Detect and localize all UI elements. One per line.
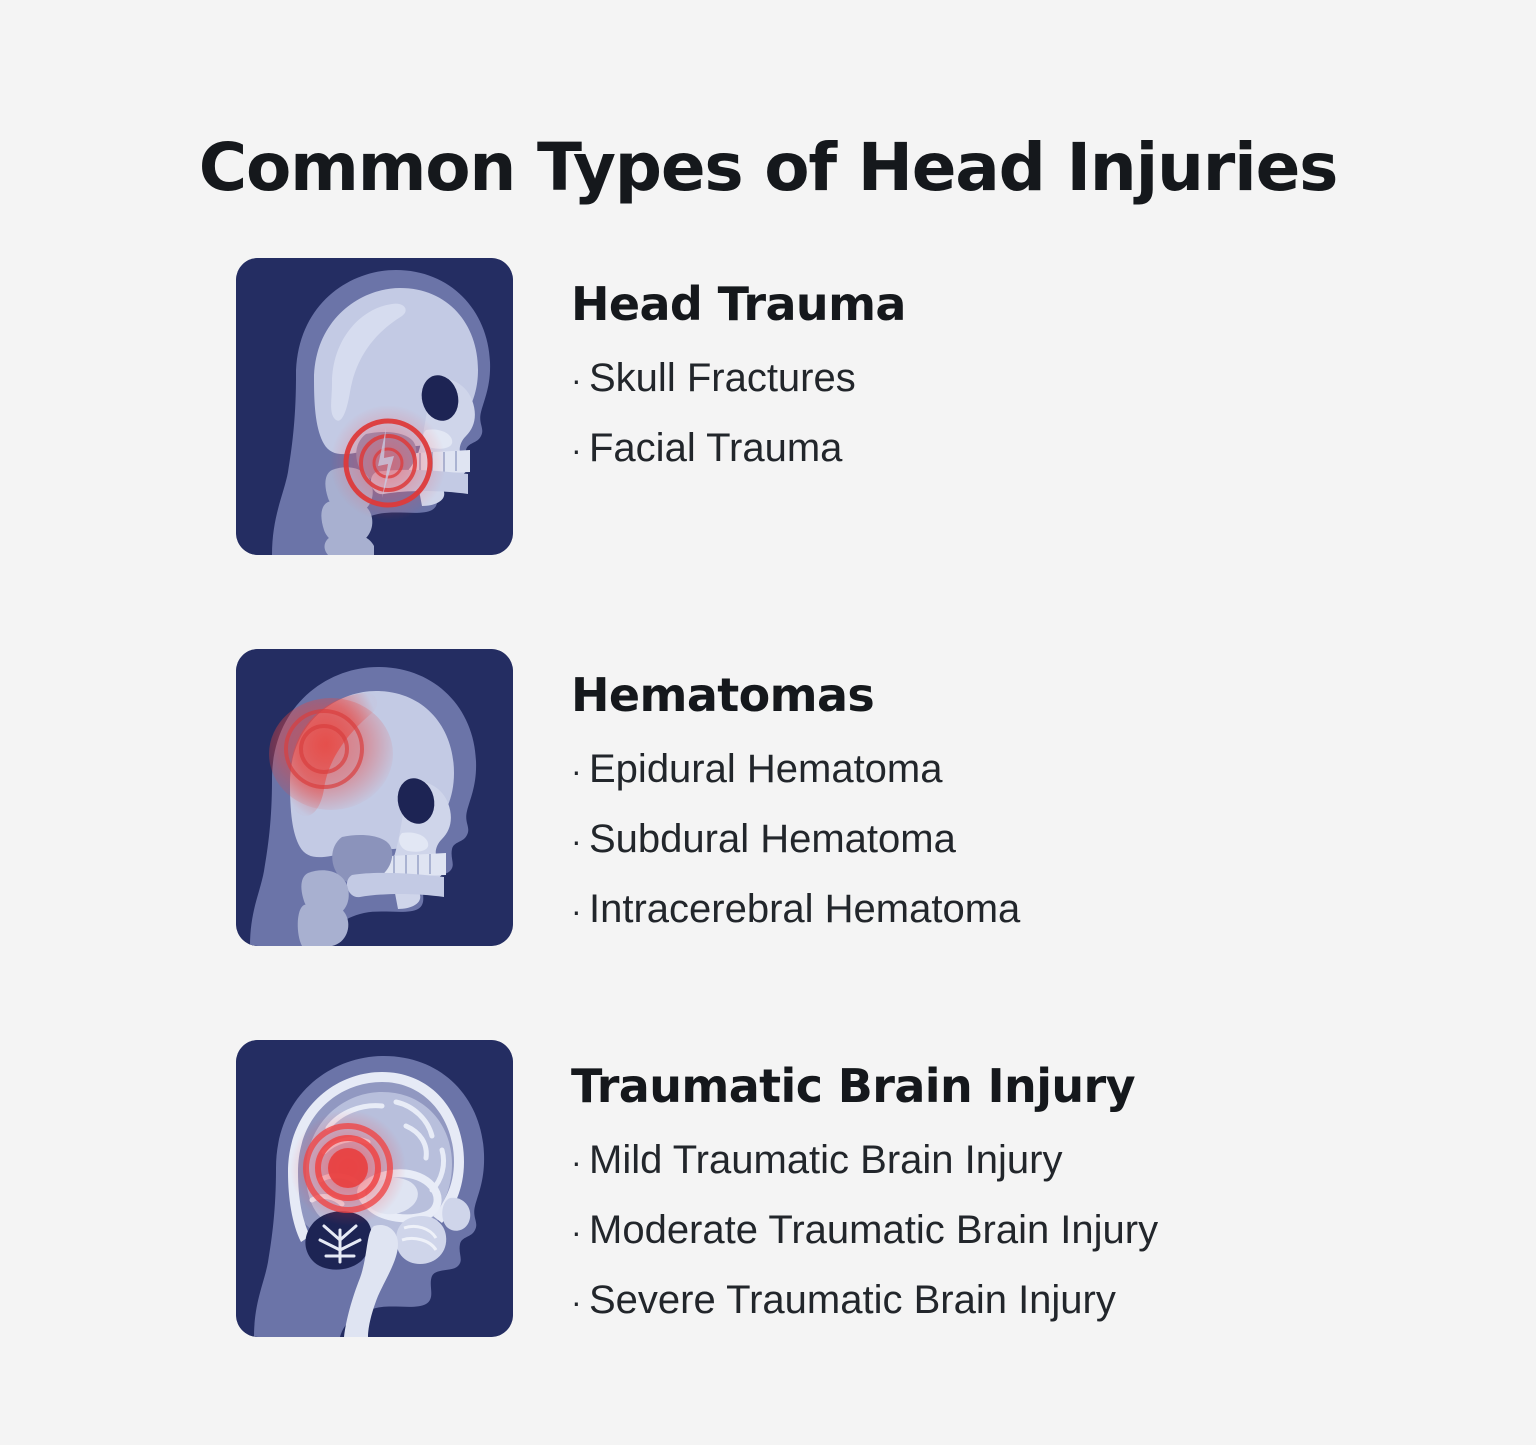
list-item: · Moderate Traumatic Brain Injury [571, 1210, 1158, 1250]
brain-sagittal-impact-icon [236, 1040, 513, 1337]
list-item: · Mild Traumatic Brain Injury [571, 1140, 1158, 1180]
card-bullet-list: · Mild Traumatic Brain Injury · Moderate… [571, 1140, 1158, 1320]
injury-card: Traumatic Brain Injury · Mild Traumatic … [0, 1040, 1536, 1337]
skull-profile-hematoma-icon [236, 649, 513, 946]
list-item-label: Intracerebral Hematoma [589, 889, 1020, 929]
card-bullet-list: · Epidural Hematoma · Subdural Hematoma … [571, 749, 1020, 929]
list-item-label: Mild Traumatic Brain Injury [589, 1140, 1062, 1180]
bullet-dot-icon: · [571, 1286, 589, 1318]
bullet-dot-icon: · [571, 1216, 589, 1248]
infographic-page: Common Types of Head Injuries [0, 0, 1536, 1445]
list-item: · Subdural Hematoma [571, 819, 1020, 859]
list-item-label: Epidural Hematoma [589, 749, 943, 789]
card-text-block: Hematomas · Epidural Hematoma · Subdural… [513, 649, 1020, 929]
card-text-block: Head Trauma · Skull Fractures · Facial T… [513, 258, 906, 468]
page-title: Common Types of Head Injuries [0, 132, 1536, 205]
bullet-dot-icon: · [571, 755, 589, 787]
list-item-label: Severe Traumatic Brain Injury [589, 1280, 1116, 1320]
list-item: · Skull Fractures [571, 358, 906, 398]
card-heading: Hematomas [571, 671, 1020, 719]
injury-card: Head Trauma · Skull Fractures · Facial T… [0, 258, 1536, 555]
skull-profile-jaw-impact-icon [236, 258, 513, 555]
list-item-label: Subdural Hematoma [589, 819, 956, 859]
bullet-dot-icon: · [571, 434, 589, 466]
injury-card: Hematomas · Epidural Hematoma · Subdural… [0, 649, 1536, 946]
card-heading: Traumatic Brain Injury [571, 1062, 1158, 1110]
list-item-label: Facial Trauma [589, 428, 842, 468]
list-item: · Severe Traumatic Brain Injury [571, 1280, 1158, 1320]
list-item: · Facial Trauma [571, 428, 906, 468]
card-bullet-list: · Skull Fractures · Facial Trauma [571, 358, 906, 468]
list-item: · Epidural Hematoma [571, 749, 1020, 789]
bullet-dot-icon: · [571, 1146, 589, 1178]
card-heading: Head Trauma [571, 280, 906, 328]
bullet-dot-icon: · [571, 825, 589, 857]
bullet-dot-icon: · [571, 895, 589, 927]
list-item-label: Skull Fractures [589, 358, 856, 398]
injury-card-list: Head Trauma · Skull Fractures · Facial T… [0, 258, 1536, 1337]
list-item-label: Moderate Traumatic Brain Injury [589, 1210, 1158, 1250]
card-text-block: Traumatic Brain Injury · Mild Traumatic … [513, 1040, 1158, 1320]
bullet-dot-icon: · [571, 364, 589, 396]
list-item: · Intracerebral Hematoma [571, 889, 1020, 929]
